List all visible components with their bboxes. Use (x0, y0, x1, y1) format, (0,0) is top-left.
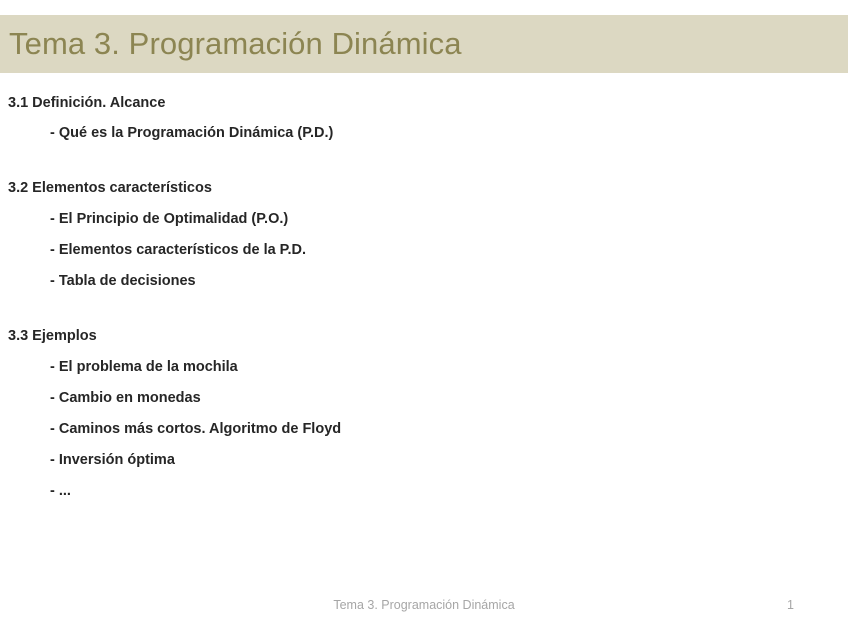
list-item: - Inversión óptima (0, 450, 848, 471)
outline-section: 3.1 Definición. Alcance - Qué es la Prog… (0, 93, 848, 144)
spacer (0, 114, 848, 123)
slide-title: Tema 3. Programación Dinámica (9, 27, 462, 61)
list-item: - El Principio de Optimalidad (P.O.) (0, 209, 848, 230)
section-heading: 3.1 Definición. Alcance (0, 93, 848, 114)
spacer (0, 230, 848, 240)
footer-page-number: 1 (733, 596, 848, 614)
spacer (0, 440, 848, 450)
list-item: - ... (0, 481, 848, 502)
section-heading: 3.3 Ejemplos (0, 326, 848, 347)
list-item: - Caminos más cortos. Algoritmo de Floyd (0, 419, 848, 440)
presentation-slide: Tema 3. Programación Dinámica 3.1 Defini… (0, 0, 848, 636)
footer-title: Tema 3. Programación Dinámica (0, 596, 848, 614)
slide-footer: Tema 3. Programación Dinámica 1 (0, 596, 848, 616)
outline-section: 3.3 Ejemplos - El problema de la mochila… (0, 326, 848, 502)
list-item: - Elementos característicos de la P.D. (0, 240, 848, 261)
spacer (0, 261, 848, 271)
spacer (0, 409, 848, 419)
list-item: - Qué es la Programación Dinámica (P.D.) (0, 123, 848, 144)
spacer (0, 144, 848, 178)
outline-section: 3.2 Elementos característicos - El Princ… (0, 178, 848, 292)
list-item: - Tabla de decisiones (0, 271, 848, 292)
spacer (0, 292, 848, 326)
list-item: - El problema de la mochila (0, 357, 848, 378)
spacer (0, 378, 848, 388)
spacer (0, 347, 848, 357)
spacer (0, 199, 848, 209)
section-heading: 3.2 Elementos característicos (0, 178, 848, 199)
spacer (0, 471, 848, 481)
slide-title-band: Tema 3. Programación Dinámica (0, 15, 848, 73)
slide-body: 3.1 Definición. Alcance - Qué es la Prog… (0, 93, 848, 502)
list-item: - Cambio en monedas (0, 388, 848, 409)
